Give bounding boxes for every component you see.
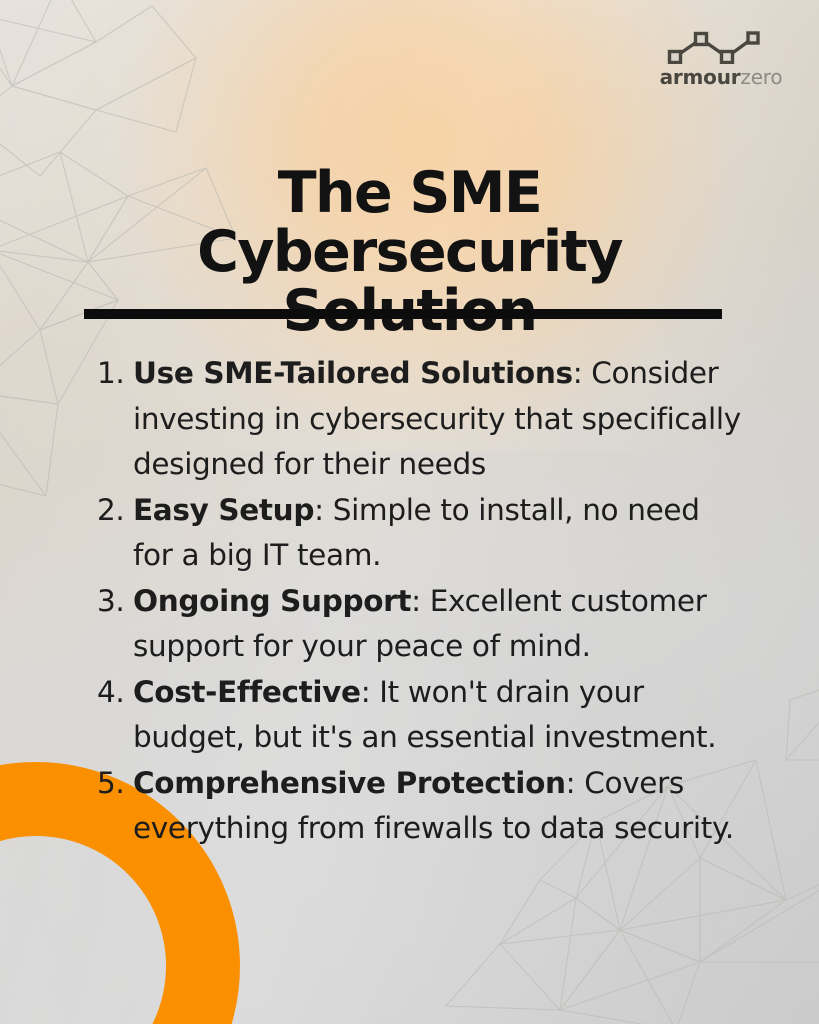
list-item-number: 2. bbox=[97, 488, 133, 534]
list-item-term: Easy Setup bbox=[133, 493, 314, 527]
list-item-term: Ongoing Support bbox=[133, 584, 411, 618]
list-item: 3. Ongoing Support: Excellent customer s… bbox=[97, 579, 742, 670]
list-item-term: Use SME-Tailored Solutions bbox=[133, 356, 573, 390]
list-item-body: Cost-Effective: It won't drain your budg… bbox=[133, 670, 742, 761]
title-line-1: The SME bbox=[60, 164, 759, 223]
list-item-body: Comprehensive Protection: Covers everyth… bbox=[133, 761, 742, 852]
network-nodes-logo-icon bbox=[665, 31, 777, 64]
list-item: 5. Comprehensive Protection: Covers ever… bbox=[97, 761, 742, 852]
brand-name-light: zero bbox=[740, 65, 782, 89]
list-item: 1. Use SME-Tailored Solutions: Consider … bbox=[97, 351, 742, 488]
list-item-number: 5. bbox=[97, 761, 133, 807]
list-item-number: 3. bbox=[97, 579, 133, 625]
list-item-number: 4. bbox=[97, 670, 133, 716]
tips-list: 1. Use SME-Tailored Solutions: Consider … bbox=[97, 351, 742, 852]
list-item-body: Ongoing Support: Excellent customer supp… bbox=[133, 579, 742, 670]
list-item: 2. Easy Setup: Simple to install, no nee… bbox=[97, 488, 742, 579]
brand-logo: armourzero bbox=[660, 31, 782, 87]
list-item-number: 1. bbox=[97, 351, 133, 397]
brand-name-bold: armour bbox=[660, 65, 741, 89]
list-item-term: Comprehensive Protection bbox=[133, 766, 566, 800]
list-item-body: Use SME-Tailored Solutions: Consider inv… bbox=[133, 351, 742, 488]
list-item: 4. Cost-Effective: It won't drain your b… bbox=[97, 670, 742, 761]
list-item-body: Easy Setup: Simple to install, no need f… bbox=[133, 488, 742, 579]
poster-canvas: armourzero The SME Cybersecurity Solutio… bbox=[0, 0, 819, 1024]
title-divider bbox=[84, 309, 722, 319]
list-item-term: Cost-Effective bbox=[133, 675, 361, 709]
title-line-2: Cybersecurity bbox=[60, 223, 759, 282]
brand-wordmark: armourzero bbox=[660, 67, 783, 87]
